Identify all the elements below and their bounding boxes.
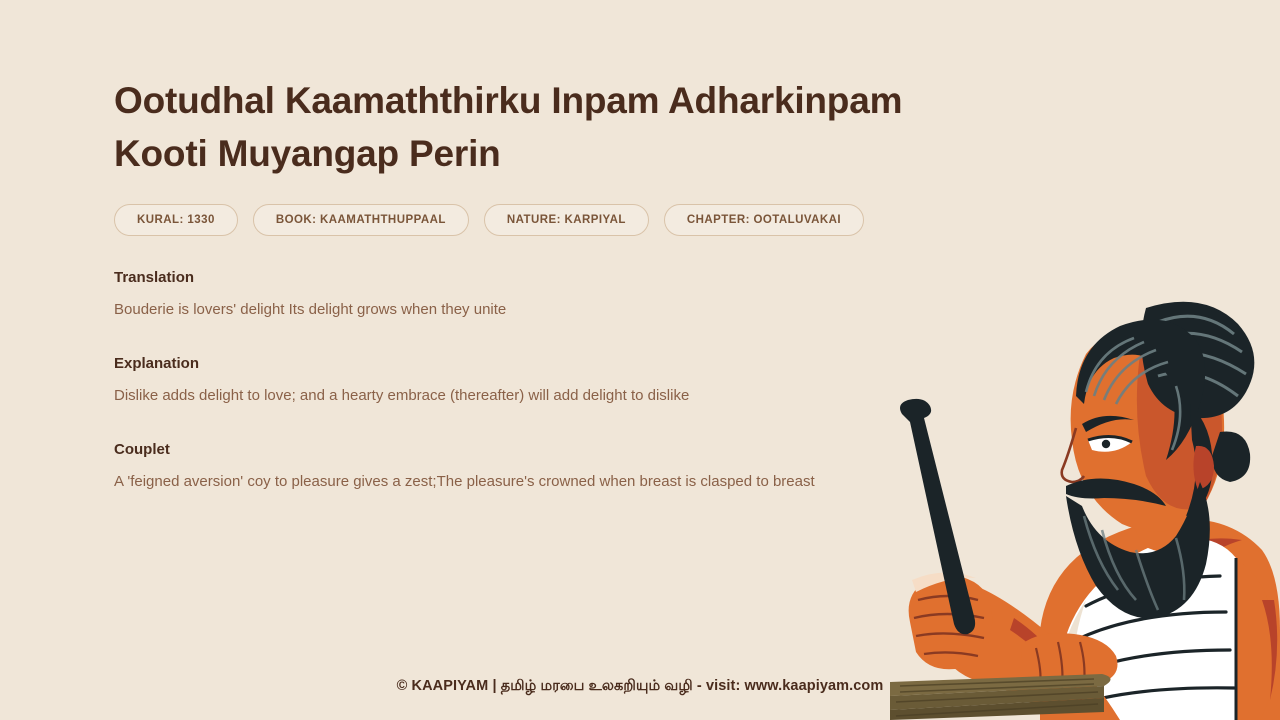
eye-lid: [1088, 436, 1132, 442]
thumb-highlight: [912, 572, 976, 592]
thiruvalluvar-illustration: [890, 300, 1280, 720]
finger-lines: [914, 596, 984, 656]
beard-strands: [1084, 516, 1184, 610]
left-hand-fist: [909, 575, 993, 669]
section-couplet-heading: Couplet: [114, 440, 815, 460]
meta-pill-chapter[interactable]: CHAPTER: OOTALUVAKAI: [664, 204, 864, 236]
section-translation: Translation Bouderie is lovers' delight …: [114, 268, 506, 320]
section-explanation-heading: Explanation: [114, 354, 689, 374]
neck: [1126, 480, 1196, 553]
moustache: [1066, 478, 1166, 506]
section-explanation: Explanation Dislike adds delight to love…: [114, 354, 689, 406]
section-translation-body: Bouderie is lovers' delight Its delight …: [114, 299, 506, 320]
hair-front: [1076, 320, 1205, 460]
footer-credit: © KAAPIYAM | தமிழ் மரபை உலகறியும் வழி - …: [0, 678, 1280, 696]
stylus-icon: [900, 399, 975, 634]
head-shape: [1071, 330, 1225, 531]
palm-leaf-bottom: [890, 698, 1104, 720]
hair-back-knot: [1212, 431, 1250, 482]
section-translation-heading: Translation: [114, 268, 506, 288]
section-couplet-body: A 'feigned aversion' coy to pleasure giv…: [114, 471, 815, 492]
section-explanation-body: Dislike adds delight to love; and a hear…: [114, 385, 689, 406]
pupil: [1102, 440, 1110, 448]
hair-bun: [1141, 302, 1254, 418]
ear: [1193, 446, 1214, 490]
kural-card: Ootudhal Kaamaththirku Inpam Adharkinpam…: [0, 0, 1280, 720]
hair-bun-strands: [1154, 316, 1246, 396]
hair-side: [1186, 404, 1213, 516]
cloth-shade: [1057, 600, 1086, 720]
meta-pill-book[interactable]: BOOK: KAAMATHTHUPPAAL: [253, 204, 469, 236]
hair-front-strands: [1086, 338, 1180, 450]
meta-pill-nature[interactable]: NATURE: KARPIYAL: [484, 204, 649, 236]
meta-pill-kural[interactable]: KURAL: 1330: [114, 204, 238, 236]
eyebrow: [1082, 416, 1134, 432]
page-title: Ootudhal Kaamaththirku Inpam Adharkinpam…: [114, 74, 914, 180]
beard: [1066, 482, 1210, 618]
eye-white: [1088, 436, 1132, 451]
nose-profile: [1062, 428, 1084, 482]
left-arm: [935, 586, 1120, 720]
meta-pill-row: KURAL: 1330 BOOK: KAAMATHTHUPPAAL NATURE…: [114, 204, 864, 236]
face-shadow: [1137, 334, 1222, 509]
thiruvalluvar-figure-svg: [890, 300, 1280, 720]
section-couplet: Couplet A 'feigned aversion' coy to plea…: [114, 440, 815, 492]
